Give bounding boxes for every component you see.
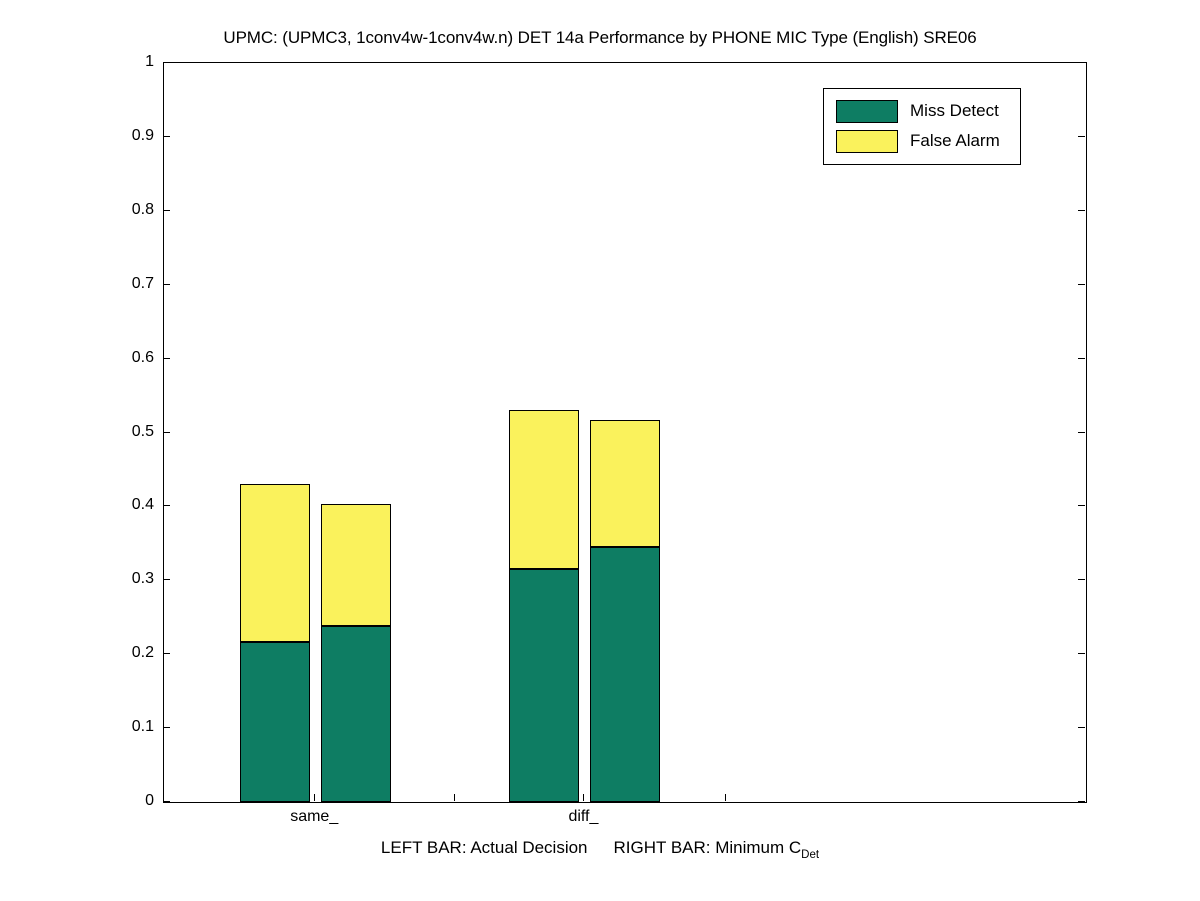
y-tick-label: 0.5: [132, 423, 154, 441]
y-tick-mark-right: [1078, 432, 1085, 433]
y-tick-mark: [163, 432, 170, 433]
bar-segment-false-alarm: [509, 410, 579, 569]
y-tick-mark: [163, 579, 170, 580]
x-tick-mark: [314, 794, 315, 801]
y-tick-mark: [163, 210, 170, 211]
bar-same-minimum: [321, 504, 391, 802]
bar-diff-actual: [509, 410, 579, 802]
x-tick-label: diff_: [568, 808, 598, 826]
legend-label-false-alarm: False Alarm: [910, 131, 1000, 151]
y-tick-mark-right: [1078, 505, 1085, 506]
legend-swatch-miss-detect: [836, 100, 898, 123]
y-tick-mark-right: [1078, 727, 1085, 728]
legend-item-miss-detect[interactable]: Miss Detect: [824, 96, 1020, 126]
y-tick-label: 1: [145, 53, 154, 71]
y-tick-label: 0.9: [132, 127, 154, 145]
y-tick-label: 0.6: [132, 349, 154, 367]
y-tick-mark: [163, 284, 170, 285]
x-axis-label-right: RIGHT BAR: Minimum C: [614, 838, 802, 857]
legend-item-false-alarm[interactable]: False Alarm: [824, 126, 1020, 156]
y-tick-mark: [163, 505, 170, 506]
bar-segment-false-alarm: [321, 504, 391, 626]
y-tick-label: 0.3: [132, 570, 154, 588]
plot-area: [163, 62, 1087, 803]
y-tick-mark: [163, 653, 170, 654]
y-tick-mark-right: [1078, 284, 1085, 285]
y-tick-mark-right: [1078, 579, 1085, 580]
legend-swatch-false-alarm: [836, 130, 898, 153]
chart-title: UPMC: (UPMC3, 1conv4w-1conv4w.n) DET 14a…: [0, 28, 1200, 48]
x-tick-label: same_: [290, 808, 338, 826]
legend-label-miss-detect: Miss Detect: [910, 101, 999, 121]
y-tick-mark-right: [1078, 136, 1085, 137]
y-tick-label: 0.2: [132, 644, 154, 662]
bar-segment-false-alarm: [590, 420, 660, 547]
x-tick-mark: [725, 794, 726, 801]
x-tick-mark: [583, 794, 584, 801]
bar-segment-miss-detect: [240, 642, 310, 802]
x-axis-label-left: LEFT BAR: Actual Decision: [381, 838, 588, 857]
bar-segment-miss-detect: [590, 547, 660, 802]
x-tick-mark: [454, 794, 455, 801]
y-tick-mark-right: [1078, 210, 1085, 211]
y-tick-mark: [163, 358, 170, 359]
y-tick-mark: [163, 801, 170, 802]
x-axis-label: LEFT BAR: Actual DecisionRIGHT BAR: Mini…: [0, 838, 1200, 858]
x-axis-label-subscript: Det: [801, 849, 819, 861]
y-tick-label: 0.8: [132, 201, 154, 219]
y-tick-label: 0.7: [132, 275, 154, 293]
y-tick-mark-right: [1078, 62, 1085, 63]
y-tick-label: 0: [145, 792, 154, 810]
chart-legend: Miss Detect False Alarm: [823, 88, 1021, 165]
figure-canvas: UPMC: (UPMC3, 1conv4w-1conv4w.n) DET 14a…: [0, 0, 1200, 901]
y-tick-mark: [163, 62, 170, 63]
y-tick-mark-right: [1078, 358, 1085, 359]
y-tick-mark-right: [1078, 653, 1085, 654]
bar-same-actual: [240, 484, 310, 802]
y-tick-mark: [163, 727, 170, 728]
bar-segment-miss-detect: [509, 569, 579, 802]
y-tick-label: 0.4: [132, 496, 154, 514]
bar-segment-false-alarm: [240, 484, 310, 642]
y-tick-mark-right: [1078, 801, 1085, 802]
y-tick-mark: [163, 136, 170, 137]
bar-segment-miss-detect: [321, 626, 391, 802]
bars-layer: [164, 63, 1086, 802]
y-tick-label: 0.1: [132, 718, 154, 736]
bar-diff-minimum: [590, 420, 660, 802]
